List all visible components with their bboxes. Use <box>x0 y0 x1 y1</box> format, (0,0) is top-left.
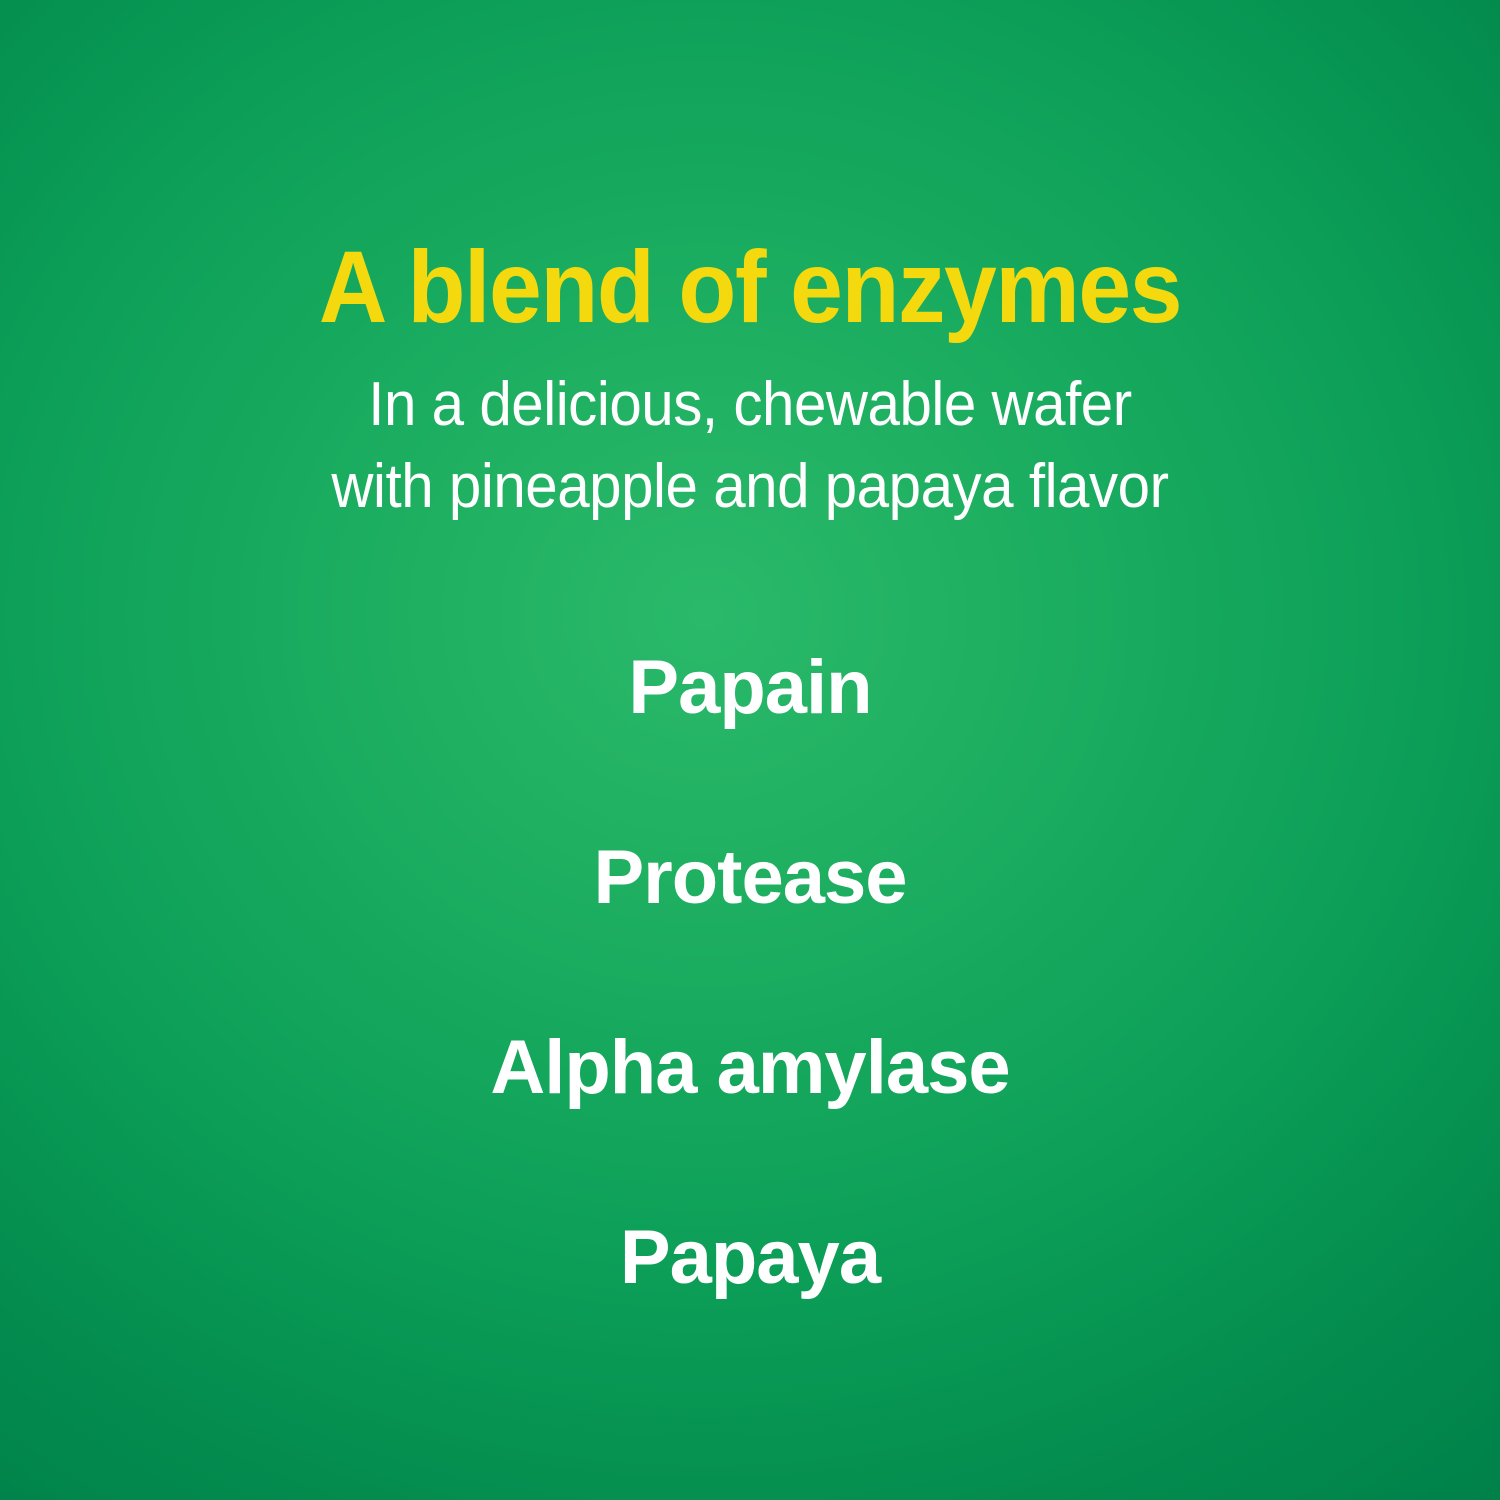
list-item: Alpha amylase <box>0 1020 1500 1210</box>
enzyme-label-papain: Papain <box>628 640 871 736</box>
page-title: A blend of enzymes <box>53 236 1448 338</box>
subtitle-line-2: with pineapple and papaya flavor <box>45 446 1455 528</box>
subtitle-line-1: In a delicious, chewable wafer <box>45 364 1455 446</box>
enzyme-list: Papain Protease Alpha amylase Papaya <box>0 640 1500 1400</box>
subtitle: In a delicious, chewable wafer with pine… <box>45 338 1455 529</box>
panel-content: A blend of enzymes In a delicious, chewa… <box>0 0 1500 1500</box>
enzyme-label-protease: Protease <box>593 830 906 926</box>
product-info-panel: A blend of enzymes In a delicious, chewa… <box>0 0 1500 1500</box>
list-item: Papaya <box>0 1210 1500 1400</box>
list-item: Protease <box>0 830 1500 1020</box>
header-block: A blend of enzymes In a delicious, chewa… <box>0 236 1500 529</box>
enzyme-label-papaya: Papaya <box>620 1210 880 1306</box>
list-item: Papain <box>0 640 1500 830</box>
enzyme-label-alpha-amylase: Alpha amylase <box>490 1020 1009 1116</box>
